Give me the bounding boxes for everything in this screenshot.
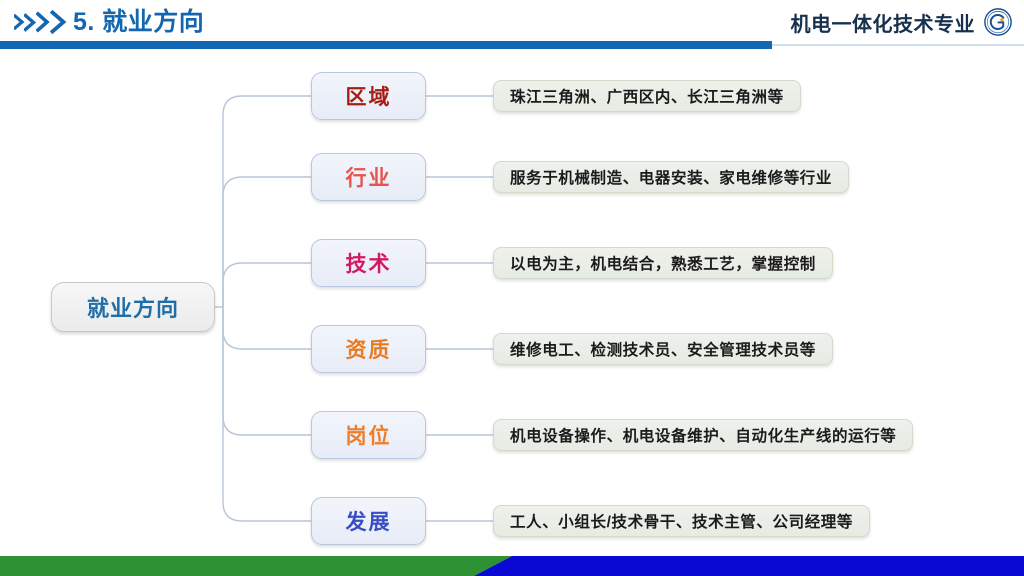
detail-node-1-label: 珠江三角洲、广西区内、长江三角洲等 [510,85,784,107]
detail-node-4-label: 维修电工、检测技术员、安全管理技术员等 [510,338,816,360]
connector-branch-1 [223,96,311,307]
slide-footer-bar [0,556,1024,576]
category-node-4-label: 资质 [346,334,392,364]
header-accent-bar [0,41,772,49]
category-node-1-label: 区域 [346,81,392,111]
detail-node-1[interactable]: 珠江三角洲、广西区内、长江三角洲等 [493,80,801,112]
category-node-6[interactable]: 发展 [311,497,426,545]
header-right-group: 机电一体化技术专业 [791,5,1013,39]
header-title-group: 5. 就业方向 [14,4,204,40]
category-node-2[interactable]: 行业 [311,153,426,201]
detail-node-2-label: 服务于机械制造、电器安装、家电维修等行业 [510,166,832,188]
page-title: 5. 就业方向 [73,7,204,37]
detail-node-3-label: 以电为主，机电结合，熟悉工艺，掌握控制 [510,252,816,274]
category-node-4[interactable]: 资质 [311,325,426,373]
detail-node-3[interactable]: 以电为主，机电结合，熟悉工艺，掌握控制 [493,247,833,279]
category-node-3[interactable]: 技术 [311,239,426,287]
detail-node-5-label: 机电设备操作、机电设备维护、自动化生产线的运行等 [510,424,896,446]
detail-node-6[interactable]: 工人、小组长/技术骨干、技术主管、公司经理等 [493,505,870,537]
detail-node-6-label: 工人、小组长/技术骨干、技术主管、公司经理等 [510,510,853,532]
connector-branch-4 [223,307,311,349]
slide-header: 5. 就业方向 机电一体化技术专业 [0,0,1024,52]
department-name: 机电一体化技术专业 [791,8,976,37]
mindmap-root-node[interactable]: 就业方向 [51,282,215,332]
category-node-2-label: 行业 [346,162,392,192]
detail-node-2[interactable]: 服务于机械制造、电器安装、家电维修等行业 [493,161,849,193]
category-node-6-label: 发展 [346,506,392,536]
header-thin-rule [772,44,1024,46]
school-emblem-logo-icon [984,8,1012,36]
footer-right-blue [474,556,1024,576]
connector-branch-2 [223,177,311,307]
detail-node-5[interactable]: 机电设备操作、机电设备维护、自动化生产线的运行等 [493,419,913,451]
connector-branch-5 [223,307,311,435]
double-chevron-right-icon [14,7,67,37]
connector-branch-6 [223,307,311,521]
category-node-5-label: 岗位 [346,420,392,450]
detail-node-4[interactable]: 维修电工、检测技术员、安全管理技术员等 [493,333,833,365]
footer-left-green [0,556,512,576]
root-node-label: 就业方向 [87,291,179,323]
category-node-1[interactable]: 区域 [311,72,426,120]
mindmap-canvas: 就业方向 区域 珠江三角洲、广西区内、长江三角洲等 行业 服务于机械制造、电器安… [0,52,1024,552]
category-node-3-label: 技术 [346,248,392,278]
connector-branch-3 [223,263,311,307]
category-node-5[interactable]: 岗位 [311,411,426,459]
